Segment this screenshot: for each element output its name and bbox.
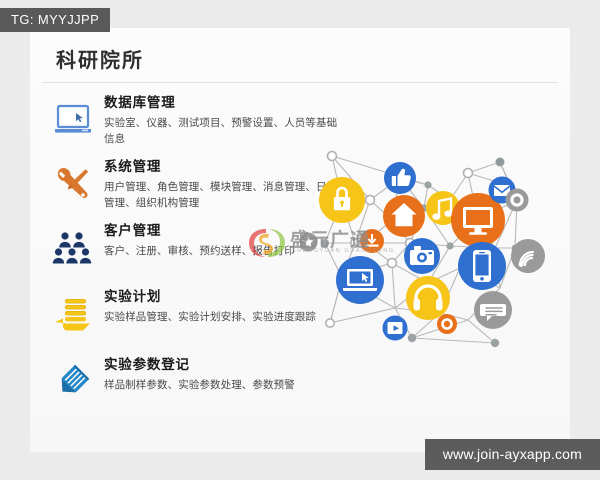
wrench-screwdriver-icon (52, 162, 94, 204)
smartphone-icon (458, 242, 506, 290)
chat-bubble-icon (474, 291, 512, 329)
slide-canvas: 科研院所 数据库管理 实验室、仪器、测试项目、预警设置、人员等基础信息 (0, 0, 600, 480)
wifi-icon (511, 239, 545, 273)
headphones-icon (406, 276, 450, 320)
tg-tag-overlay: TG: MYYJJPP (0, 8, 110, 32)
laptop-cursor-icon (52, 98, 94, 140)
star-node-icon (300, 233, 318, 252)
lock-icon (319, 177, 365, 223)
list-item-title: 数据库管理 (104, 96, 352, 111)
laptop-icon (336, 256, 384, 304)
url-overlay: www.join-ayxapp.com (425, 439, 600, 470)
target-small-icon (437, 314, 457, 334)
hand-documents-icon (52, 292, 94, 334)
people-group-icon (52, 226, 94, 268)
connected-devices-network-illustration (300, 138, 562, 388)
page-title: 科研院所 (56, 44, 144, 73)
play-video-icon (383, 316, 408, 341)
target-icon (506, 189, 529, 212)
pencil-icon (52, 360, 94, 402)
thumbs-up-icon (384, 162, 416, 194)
home-icon (383, 195, 425, 237)
title-divider (42, 82, 558, 83)
download-icon (360, 229, 384, 253)
camera-icon (404, 238, 440, 274)
